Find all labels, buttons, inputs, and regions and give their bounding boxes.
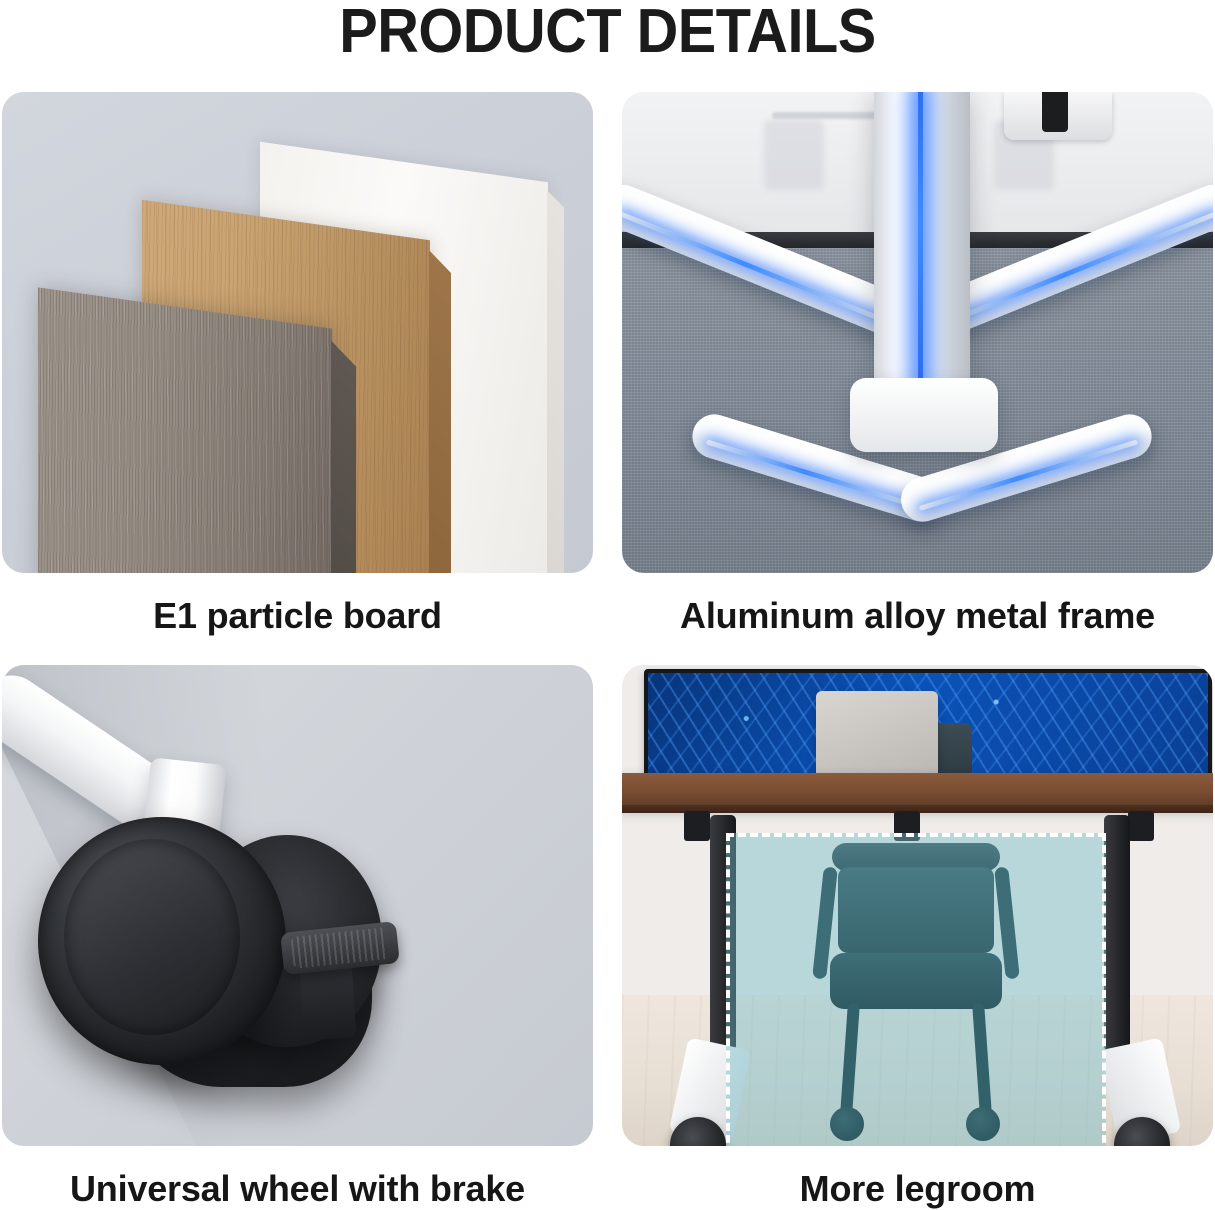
clamp-slot	[1042, 92, 1068, 132]
panel-image-universal-wheel	[2, 665, 593, 1146]
panel-image-particle-board	[2, 92, 593, 573]
chair-leg-right	[972, 1003, 992, 1116]
panel-caption: E1 particle board	[2, 595, 593, 637]
wall-object-left	[764, 120, 824, 190]
white-board-edge	[547, 190, 564, 573]
frame-center-column	[874, 92, 970, 416]
desk-bracket-left	[684, 811, 710, 841]
page-title: PRODUCT DETAILS	[43, 0, 1173, 68]
panel-image-metal-frame	[622, 92, 1213, 573]
gray-board-face	[38, 287, 332, 573]
desk-bracket-right	[1128, 811, 1154, 841]
desk-leg-right	[1104, 815, 1130, 1051]
brake-lever-grip	[291, 927, 390, 969]
gray-board	[38, 287, 332, 573]
laptop	[816, 691, 938, 783]
panel-caption: Aluminum alloy metal frame	[622, 595, 1213, 637]
chair-seat	[830, 953, 1002, 1009]
gray-board-edge	[331, 341, 356, 573]
panel-aluminum-alloy-metal-frame[interactable]: Aluminum alloy metal frame	[622, 92, 1213, 637]
panel-caption: More legroom	[622, 1168, 1213, 1210]
panel-more-legroom[interactable]: More legroom	[622, 665, 1213, 1210]
oak-board-edge	[429, 250, 451, 573]
panel-e1-particle-board[interactable]: E1 particle board	[2, 92, 593, 637]
panel-image-more-legroom	[622, 665, 1213, 1146]
product-details-infographic: PRODUCT DETAILS E1 particle board	[0, 0, 1215, 1205]
chair-leg-left	[840, 1003, 860, 1116]
desk-tabletop	[622, 773, 1213, 807]
frame-hub-joint	[850, 378, 998, 452]
panel-universal-wheel-with-brake[interactable]: Universal wheel with brake	[2, 665, 593, 1210]
chair-caster-left	[830, 1107, 864, 1141]
caster-wheel-front	[38, 817, 286, 1065]
table-clamp	[1004, 92, 1112, 140]
panel-caption: Universal wheel with brake	[2, 1168, 593, 1210]
chair-caster-right	[966, 1107, 1000, 1141]
caster-wheel-rim	[64, 839, 240, 1035]
blue-glow-line-column	[918, 92, 923, 386]
chair-backrest	[838, 867, 994, 953]
teal-chair	[818, 843, 1014, 1143]
